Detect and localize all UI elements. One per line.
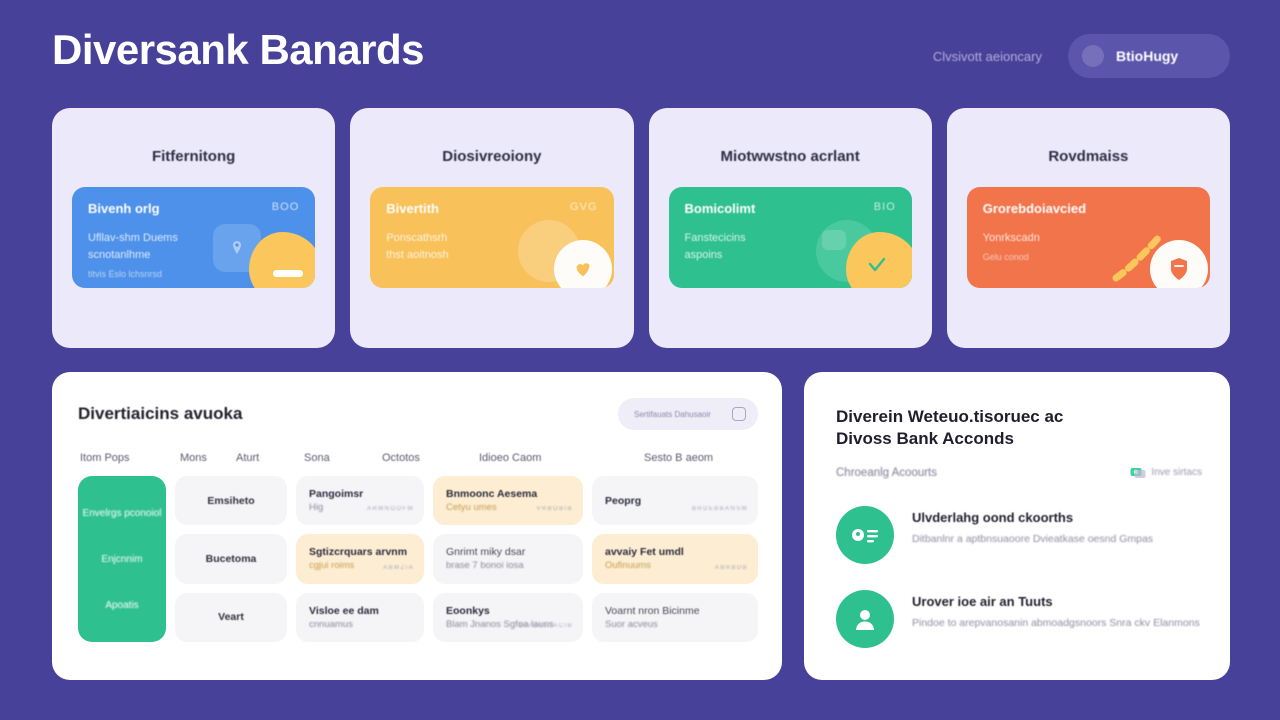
cell-title: Pangoimsr	[309, 488, 411, 500]
table-row[interactable]: Visloe ee dam cnnuamus	[296, 593, 424, 642]
header-toggle-button[interactable]: BtioHugy	[1068, 34, 1230, 78]
table-row[interactable]: Bnmoonc Aesema Cetyu umes VRBOBIB	[433, 476, 583, 525]
page-header: Diversank Banards Clvsivott aeioncary Bt…	[0, 0, 1280, 108]
column-header-6: Sesto B aeom	[644, 452, 713, 464]
mini-card-code: BIO	[874, 201, 896, 213]
feature-row-2[interactable]: Urover ioe air an Tuuts Pindoe to arepva…	[836, 590, 1202, 648]
stat-card-title: Rovdmaiss	[967, 148, 1210, 165]
feature-row-1[interactable]: Ulvderlahg oond ckoorths Ditbanlnr a apt…	[836, 506, 1202, 564]
table-row[interactable]: Pangoimsr Hig ARMNOOFM	[296, 476, 424, 525]
cell-label: Emsiheto	[207, 495, 254, 507]
calendar-icon[interactable]	[732, 407, 746, 421]
mini-card-line-3: titvis Eslo lchsnrsd	[88, 268, 299, 282]
mini-card-line-2: aspoins	[685, 247, 896, 264]
table-row[interactable]: Bucetoma	[175, 534, 287, 583]
table-body: Envelrgs pconoiol Enjcnnim Apoatis Emsih…	[78, 476, 758, 642]
cell-subtitle: Suor acveus	[605, 619, 745, 630]
header-note: Clvsivott aeioncary	[933, 49, 1042, 64]
table-column-headers: Itom Pops Mons Aturt Sona Octotos Idioeo…	[78, 452, 758, 464]
stat-card-1[interactable]: Fitfernitong Bivenh orlg BOO Ufllav-shm …	[52, 108, 335, 348]
feature-title: Ulvderlahg oond ckoorths	[912, 510, 1073, 525]
cell-meta: ARMNOOFM	[367, 506, 414, 512]
column-header-3: Sona	[304, 452, 382, 464]
header-toggle-label: BtioHugy	[1116, 48, 1178, 64]
promo-title: Diverein Weteuo.tisoruec ac Divoss Bank …	[836, 406, 1202, 450]
feature-description: Pindoe to arepvanosanin abmoadgsnoors Sn…	[912, 615, 1200, 632]
table-row[interactable]: Eoonkys Blam Jnanos Sgfoa launs BIVSASTA…	[433, 593, 583, 642]
table-column-2: Emsiheto Bucetoma Veart	[175, 476, 287, 642]
mini-card-line-2: scnotanlhme	[88, 247, 299, 264]
promo-title-line-1: Diverein Weteuo.tisoruec ac	[836, 407, 1063, 426]
mini-card-name: Bomicolimt	[685, 201, 756, 216]
card-list-icon	[836, 506, 894, 564]
mini-card-name: Grorebdoiavcied	[983, 201, 1086, 216]
search-input[interactable]: Sertifauats Dahusaoir	[618, 398, 758, 430]
cells-area: Emsiheto Bucetoma Veart Pangoimsr Hig	[175, 476, 758, 642]
mini-card-code: GVG	[570, 201, 597, 213]
mini-card-orange[interactable]: Grorebdoiavcied Yonrkscadn Gelu conod	[967, 187, 1210, 288]
cell-title: Visloe ee dam	[309, 605, 411, 617]
table-row[interactable]: Peoprg BRDEBBANSM	[592, 476, 758, 525]
promo-panel: Diverein Weteuo.tisoruec ac Divoss Bank …	[804, 372, 1230, 680]
mini-card-name: Bivertith	[386, 201, 439, 216]
mini-card-green[interactable]: Bomicolimt BIO Fanstecicins aspoins	[669, 187, 912, 288]
bottom-section: Divertiaicins avuoka Sertifauats Dahusao…	[52, 372, 1230, 680]
cell-meta: ABMZIA	[383, 565, 414, 571]
cell-title: Sgtizcrquars arvnm	[309, 546, 411, 558]
cell-meta: BRDEBBANSM	[692, 506, 748, 512]
column-header-1: Mons	[180, 452, 236, 464]
promo-title-line-2: Divoss Bank Acconds	[836, 429, 1014, 448]
column-header-4: Octotos	[382, 452, 479, 464]
table-column-3: Pangoimsr Hig ARMNOOFM Sgtizcrquars arvn…	[296, 476, 424, 642]
mini-card-line-1: Yonrkscadn	[983, 230, 1194, 247]
category-item-1: Enjcnnim	[101, 554, 142, 565]
feature-title: Urover ioe air an Tuuts	[912, 594, 1053, 609]
cell-subtitle: cnnuamus	[309, 619, 411, 630]
cell-title: Bnmoonc Aesema	[446, 488, 570, 500]
mini-card-line-3: Gelu conod	[983, 251, 1194, 265]
mini-card-name: Bivenh orlg	[88, 201, 160, 216]
feature-text-2: Urover ioe air an Tuuts Pindoe to arepva…	[912, 590, 1200, 632]
cell-label: Veart	[218, 611, 244, 623]
mini-card-line-1: Ponscathsrh	[386, 230, 597, 247]
table-column-4: Bnmoonc Aesema Cetyu umes VRBOBIB Gnrimt…	[433, 476, 583, 642]
user-icon	[836, 590, 894, 648]
stat-card-3[interactable]: Miotwwstno acrlant Bomicolimt BIO Fanste…	[649, 108, 932, 348]
promo-subtitle: Chroeanlg Acoourts	[836, 467, 937, 479]
panel-title: Divertiaicins avuoka	[78, 404, 242, 424]
mini-card-code: BOO	[272, 201, 299, 213]
cell-title: Peoprg	[605, 495, 745, 507]
table-row[interactable]: Voarnt nron Bicinme Suor acveus	[592, 593, 758, 642]
mini-card-line-1: Fanstecicins	[685, 230, 896, 247]
stat-card-title: Fitfernitong	[72, 148, 315, 165]
stat-card-title: Diosivreoiony	[370, 148, 613, 165]
table-row[interactable]: Emsiheto	[175, 476, 287, 525]
status-badge: Inve sirtacs	[1130, 466, 1202, 480]
feature-description: Ditbanlnr a aptbnsuaoore Dvieatkase oesn…	[912, 531, 1153, 548]
stat-cards-row: Fitfernitong Bivenh orlg BOO Ufllav-shm …	[52, 108, 1230, 348]
mini-card-amber[interactable]: Bivertith GVG Ponscathsrh thst aoitnosh	[370, 187, 613, 288]
mini-card-line-2: thst aoitnosh	[386, 247, 597, 264]
page-title: Diversank Banards	[52, 26, 424, 74]
stat-card-title: Miotwwstno acrlant	[669, 148, 912, 165]
column-header-2: Aturt	[236, 452, 304, 464]
column-header-0: Itom Pops	[80, 452, 180, 464]
stat-card-4[interactable]: Rovdmaiss Grorebdoiavcied Yonrkscadn Gel…	[947, 108, 1230, 348]
search-placeholder: Sertifauats Dahusaoir	[634, 410, 711, 419]
mini-card-line-1: Ufllav-shm Duems	[88, 230, 299, 247]
panel-header: Divertiaicins avuoka Sertifauats Dahusao…	[78, 398, 758, 430]
cell-meta: VRBOBIB	[537, 506, 573, 512]
category-item-0: Envelrgs pconoiol	[83, 508, 162, 519]
table-row[interactable]: Veart	[175, 593, 287, 642]
promo-subtitle-row: Chroeanlg Acoourts Inve sirtacs	[836, 466, 1202, 480]
status-badge-text: Inve sirtacs	[1151, 467, 1202, 478]
table-row[interactable]: avvaiy Fet umdl Oufinuums ABRBDB	[592, 534, 758, 583]
money-icon	[1130, 466, 1146, 480]
cell-meta: BIVSASTACIB	[519, 623, 573, 629]
cell-subtitle: brase 7 bonoi iosa	[446, 560, 570, 571]
cell-title: Eoonkys	[446, 605, 570, 617]
cell-meta: ABRBDB	[715, 565, 748, 571]
table-column-5: Peoprg BRDEBBANSM avvaiy Fet umdl Oufinu…	[592, 476, 758, 642]
header-actions: Clvsivott aeioncary BtioHugy	[933, 34, 1230, 78]
cell-title: Gnrimt miky dsar	[446, 546, 570, 558]
mini-card-blue[interactable]: Bivenh orlg BOO Ufllav-shm Duems scnotan…	[72, 187, 315, 288]
category-column[interactable]: Envelrgs pconoiol Enjcnnim Apoatis	[78, 476, 166, 642]
cell-title: avvaiy Fet umdl	[605, 546, 745, 558]
toggle-knob-icon	[1082, 45, 1104, 67]
column-header-5: Idioeo Caom	[479, 452, 644, 464]
category-item-2: Apoatis	[105, 600, 138, 611]
table-row[interactable]: Sgtizcrquars arvnm cgjui roims ABMZIA	[296, 534, 424, 583]
cell-title: Voarnt nron Bicinme	[605, 605, 745, 617]
transactions-panel: Divertiaicins avuoka Sertifauats Dahusao…	[52, 372, 782, 680]
table-row[interactable]: Gnrimt miky dsar brase 7 bonoi iosa	[433, 534, 583, 583]
stat-card-2[interactable]: Diosivreoiony Bivertith GVG Ponscathsrh …	[350, 108, 633, 348]
dashboard-page: Diversank Banards Clvsivott aeioncary Bt…	[0, 0, 1280, 720]
feature-text-1: Ulvderlahg oond ckoorths Ditbanlnr a apt…	[912, 506, 1153, 548]
cell-label: Bucetoma	[206, 553, 257, 565]
